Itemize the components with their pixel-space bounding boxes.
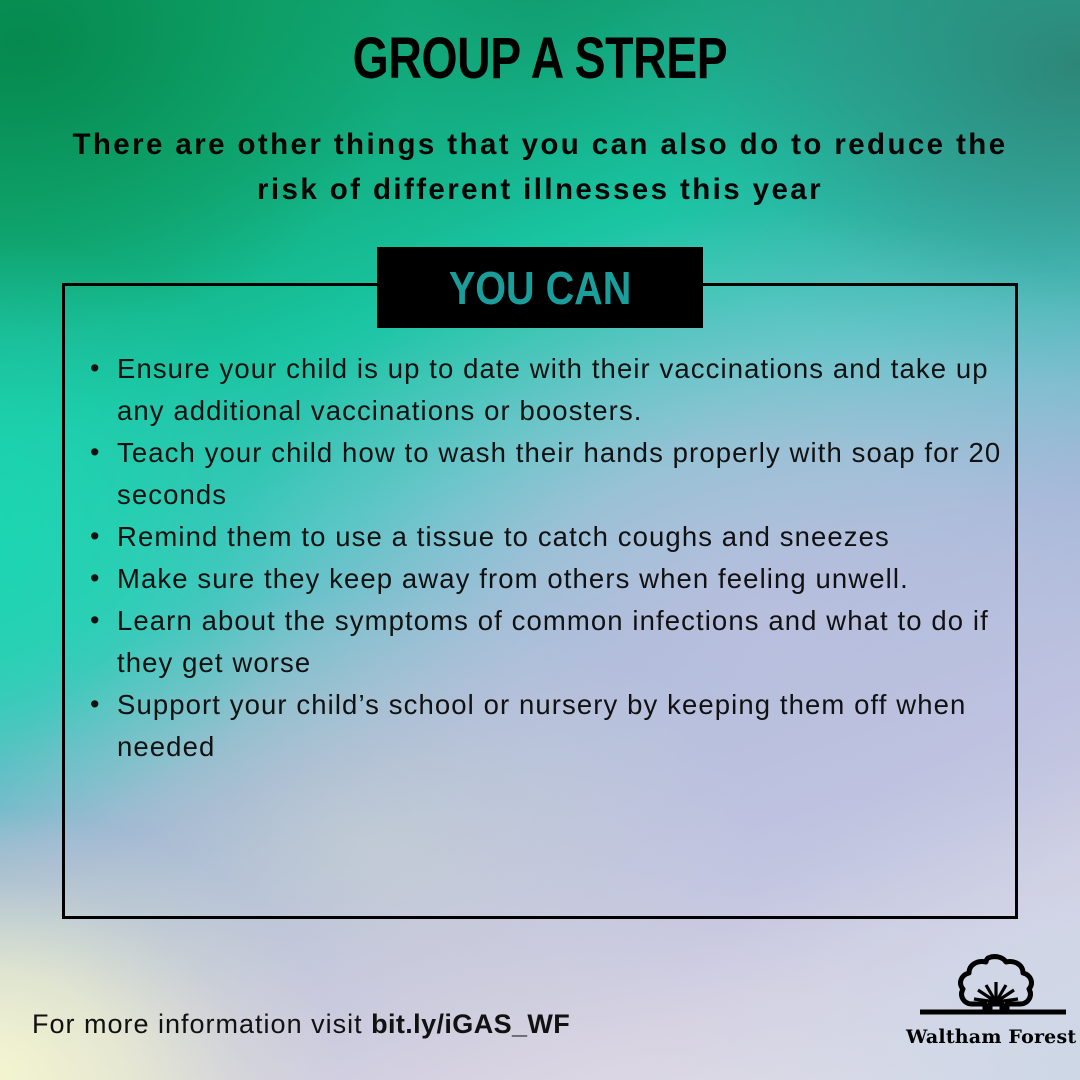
you-can-banner-label: YOU CAN	[449, 264, 631, 312]
tree-icon	[906, 952, 1066, 1030]
poster: GROUP A STREP There are other things tha…	[0, 0, 1080, 1080]
list-item: Support your child’s school or nursery b…	[86, 684, 1021, 768]
footer-link[interactable]: bit.ly/iGAS_WF	[371, 1009, 570, 1039]
list-item: Ensure your child is up to date with the…	[86, 348, 1021, 432]
list-item: Learn about the symptoms of common infec…	[86, 600, 1021, 684]
page-subtitle: There are other things that you can also…	[70, 122, 1010, 212]
logo-wordmark: Waltham Forest	[906, 1026, 1066, 1048]
list-item: Remind them to use a tissue to catch cou…	[86, 516, 1021, 558]
you-can-banner: YOU CAN	[377, 247, 703, 328]
advice-list: Ensure your child is up to date with the…	[86, 348, 1021, 768]
waltham-forest-logo: Waltham Forest	[906, 952, 1066, 1058]
list-item: Teach your child how to wash their hands…	[86, 432, 1021, 516]
page-title: GROUP A STREP	[108, 28, 972, 90]
list-item: Make sure they keep away from others whe…	[86, 558, 1021, 600]
footer-prefix: For more information visit	[32, 1009, 371, 1039]
poster-content: GROUP A STREP There are other things tha…	[0, 0, 1080, 1080]
footer-info: For more information visit bit.ly/iGAS_W…	[32, 1004, 570, 1044]
